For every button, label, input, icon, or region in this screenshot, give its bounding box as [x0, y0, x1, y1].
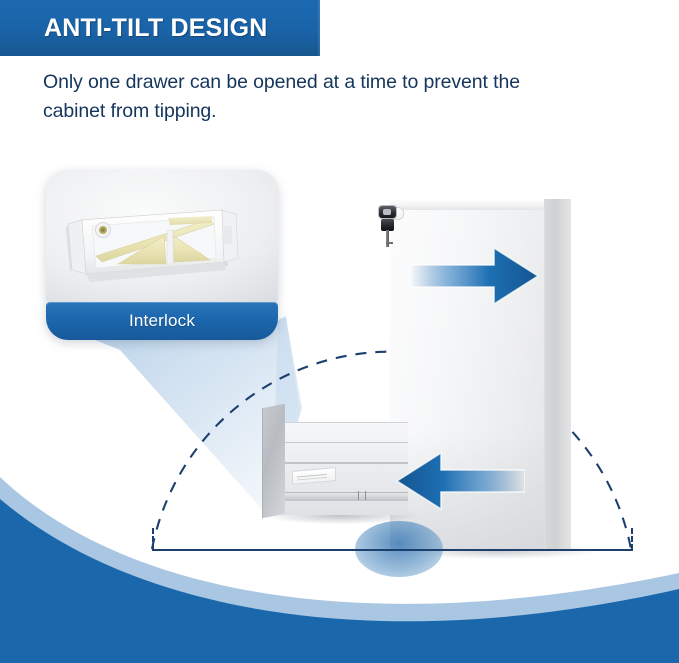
interlock-bracket-drawing: [46, 170, 278, 302]
drawer-body: [280, 422, 408, 515]
page-title: ANTI-TILT DESIGN: [44, 0, 268, 56]
key-teeth: [386, 242, 393, 244]
drawer-seam-mid: [280, 462, 408, 464]
drawer-slide-rail: [280, 492, 408, 501]
baseline-tick-left: [152, 528, 154, 550]
interlock-inset-card: Interlock: [46, 170, 278, 340]
drawer-side-panel: [262, 404, 285, 518]
floor-baseline: [152, 549, 633, 551]
drawer-seam-top: [280, 442, 408, 443]
cabinet-lock-with-key: [379, 206, 397, 250]
key-shaft: [386, 230, 389, 247]
open-drawer: [262, 406, 408, 522]
drawer-rail-clip: [358, 491, 366, 500]
inset-label-bar: Interlock: [46, 302, 278, 340]
lock-barrel: [379, 206, 396, 218]
baseline-tick-right: [631, 528, 633, 550]
interlock-bracket-photo: [46, 170, 278, 302]
arrow-right-push: [410, 245, 540, 307]
header-banner: ANTI-TILT DESIGN: [0, 0, 320, 56]
cabinet-side-panel: [542, 199, 571, 550]
inset-label-text: Interlock: [46, 302, 278, 340]
infographic-canvas: ANTI-TILT DESIGN Only one drawer can be …: [0, 0, 679, 663]
subtitle-text: Only one drawer can be opened at a time …: [43, 68, 563, 126]
arrow-left-push: [390, 450, 525, 512]
